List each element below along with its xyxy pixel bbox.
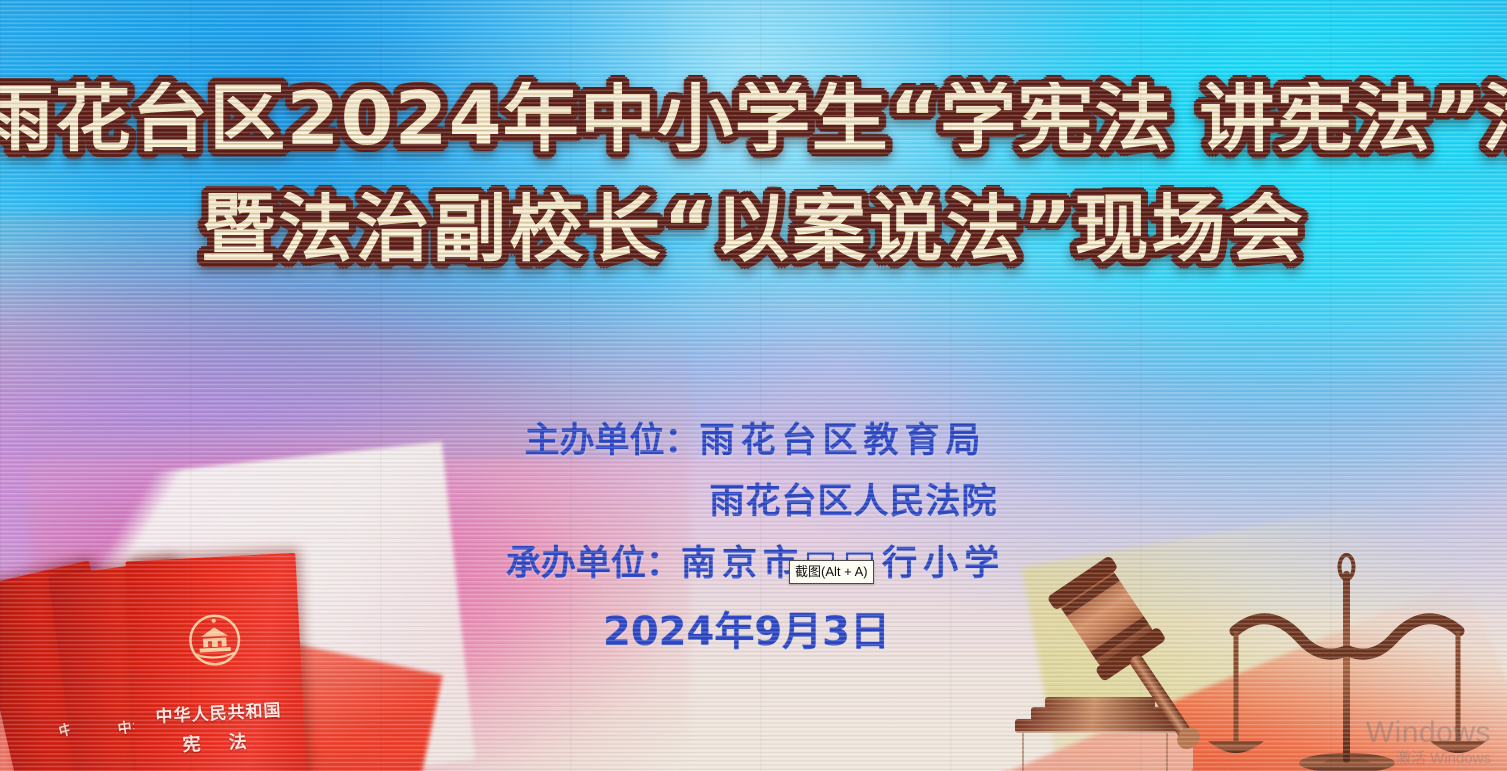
screenshot-shortcut-tooltip: 截图(Alt + A) (789, 560, 874, 584)
screenshot-root: 中 中华 中华人民共和国 宪 法 (0, 0, 1507, 771)
backdrop-top-bloom (304, 0, 1204, 230)
